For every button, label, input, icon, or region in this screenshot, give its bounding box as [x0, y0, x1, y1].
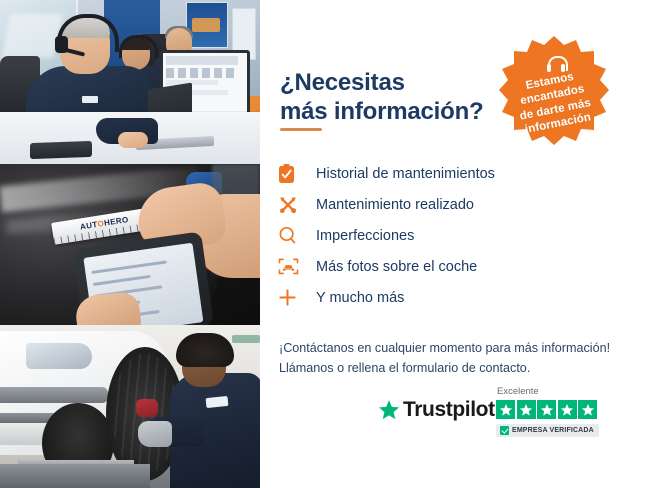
list-item: Mantenimiento realizado [278, 189, 634, 220]
trustpilot-rating: Excelente EMPRESA VERIFICADA [496, 386, 628, 440]
list-item-label: Más fotos sobre el coche [308, 259, 477, 275]
list-item-label: Imperfecciones [308, 228, 414, 244]
photo3-mechanic-hair [176, 333, 234, 367]
photo3-lift-platform [0, 464, 150, 488]
trustpilot-widget[interactable]: Trustpilot Excelente EMPRESA VERIFICADA [378, 386, 628, 446]
star-filled [558, 400, 577, 419]
page-title-line1: ¿Necesitas [280, 69, 405, 96]
trustpilot-rating-label: Excelente [496, 386, 628, 397]
content-panel: ¿Necesitas más información? Estamos enca… [260, 0, 650, 488]
photo3-grille [0, 387, 108, 403]
clipboard-check-icon [278, 162, 308, 186]
list-item: Y mucho más [278, 282, 634, 313]
photo1-agent-badge [82, 96, 98, 103]
contact-line1: ¡Contáctanos en cualquier momento para m… [279, 341, 610, 355]
photo1-poster-accent [192, 18, 220, 32]
verified-company-badge: EMPRESA VERIFICADA [496, 424, 599, 437]
photo1-agent-hand [118, 132, 148, 148]
plus-icon [278, 286, 308, 310]
trustpilot-stars [496, 400, 628, 419]
list-item-label: Historial de mantenimientos [308, 166, 495, 182]
trustpilot-star-icon [378, 399, 400, 421]
contact-line2: Llámanos o rellena el formulario de cont… [279, 361, 530, 375]
photo3-headlight [26, 343, 92, 369]
photo1-person2-headset [119, 35, 158, 58]
feature-list: Historial de mantenimientos M [278, 158, 634, 313]
photo-mechanic [0, 325, 260, 488]
contact-text: ¡Contáctanos en cualquier momento para m… [279, 338, 639, 379]
photo3-shelf [232, 335, 260, 343]
check-icon [500, 426, 509, 435]
page-title: ¿Necesitas más información? [280, 68, 530, 127]
starburst-badge: Estamos encantados de darte más informac… [496, 34, 612, 150]
photo3-glove [138, 421, 172, 447]
verified-company-label: EMPRESA VERIFICADA [512, 427, 594, 434]
star-filled [578, 400, 597, 419]
title-underline-divider [280, 128, 322, 131]
photo1-monitor-thumbnails [166, 68, 238, 78]
list-item: Imperfecciones [278, 220, 634, 251]
list-item: Historial de mantenimientos [278, 158, 634, 189]
list-item-label: Y mucho más [308, 290, 404, 306]
list-item: Más fotos sobre el coche [278, 251, 634, 282]
photo-inspection: AUTOHERO [0, 164, 260, 325]
headset-icon [546, 56, 566, 72]
trustpilot-logo: Trustpilot [378, 398, 495, 422]
photo1-tablet [30, 141, 92, 159]
star-filled [537, 400, 556, 419]
page-title-line2: más información? [280, 98, 484, 125]
car-photo-frame-icon [278, 255, 308, 279]
star-filled [517, 400, 536, 419]
magnifier-icon [278, 224, 308, 248]
promo-card: AUTOHERO [0, 0, 650, 488]
star-filled [496, 400, 515, 419]
photo-column: AUTOHERO [0, 0, 260, 488]
list-item-label: Mantenimiento realizado [308, 197, 474, 213]
photo3-tool [136, 399, 158, 417]
photo-call-center [0, 0, 260, 164]
wrench-screwdriver-icon [278, 193, 308, 217]
trustpilot-wordmark: Trustpilot [403, 398, 495, 422]
